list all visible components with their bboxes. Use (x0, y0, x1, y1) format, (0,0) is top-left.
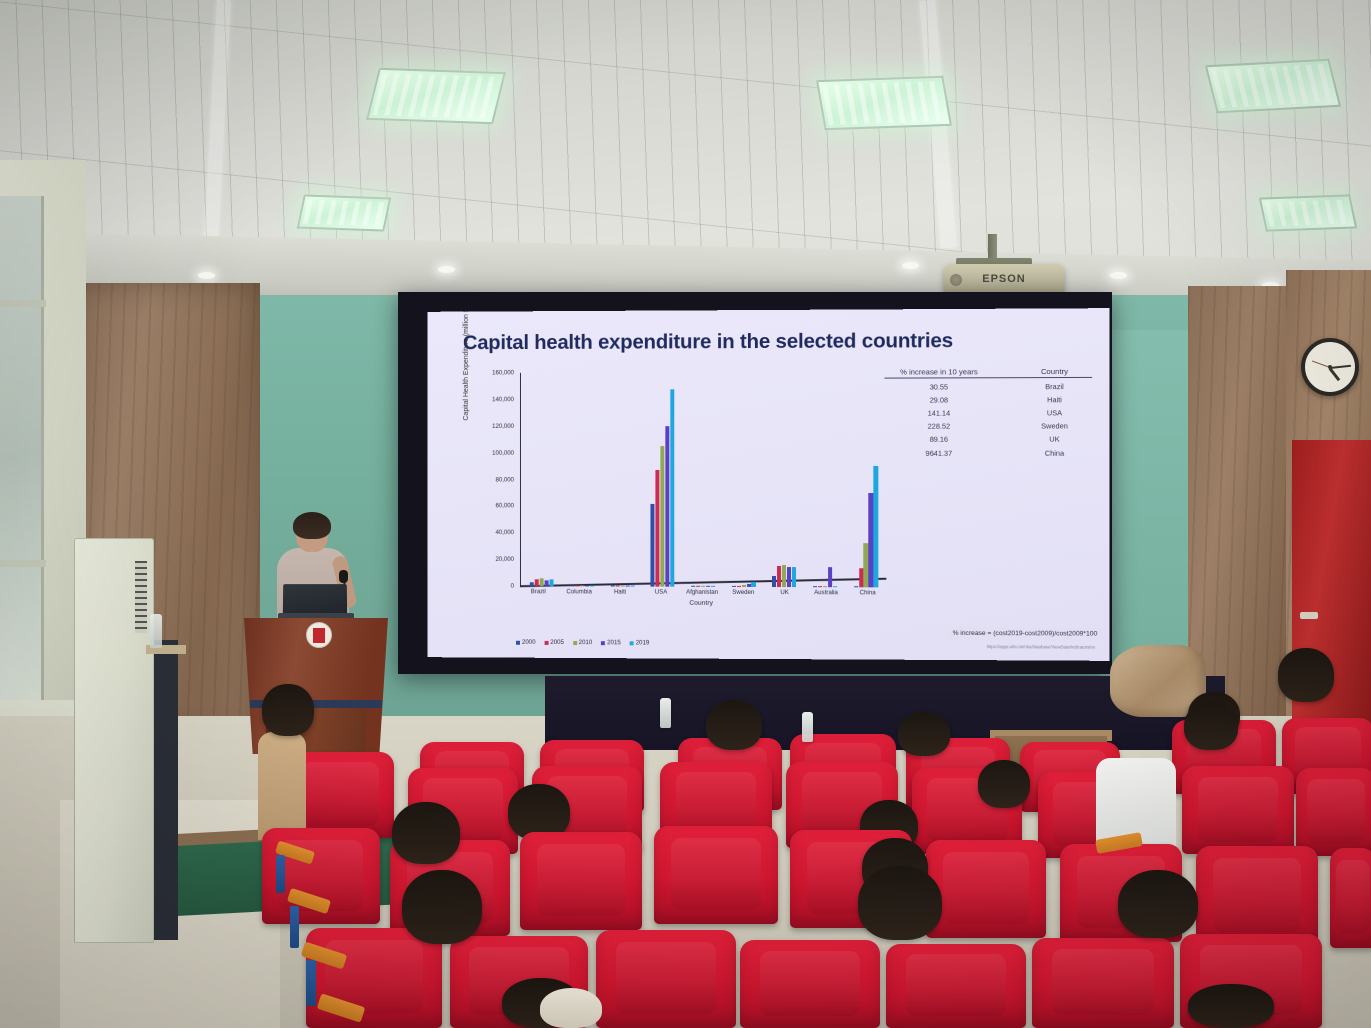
x-tick-label: USA (641, 589, 681, 596)
bar (530, 582, 534, 586)
x-tick-label: UK (765, 589, 805, 596)
ceiling-light-panel (297, 194, 392, 231)
legend-label: 2010 (579, 639, 593, 646)
bar (630, 586, 634, 587)
wood-grain (1188, 286, 1288, 716)
increase-table-header: % increase in 10 years Country (884, 367, 1092, 379)
bar (828, 567, 832, 587)
bar (864, 543, 868, 587)
ceiling-light-panel (816, 76, 952, 130)
legend-label: 2015 (607, 639, 621, 646)
bar (706, 586, 710, 587)
audience-head (1184, 702, 1238, 750)
ac-vent (135, 561, 147, 633)
laptop-screen (283, 584, 347, 616)
table-row: 141.14 USA (884, 404, 1092, 418)
x-tick-label: Sweden (723, 589, 763, 596)
ceiling-light-panel (1259, 194, 1358, 231)
formula-annotation: % increase = (cost2019-cost2009)/cost200… (947, 627, 1104, 641)
increase-value: 89.16 (884, 435, 993, 444)
y-tick-label: 60,000 (495, 503, 514, 510)
x-axis-labels: BrazilColumbiaHaitiUSAAfghanistanSwedenU… (518, 588, 888, 596)
slide-content: Capital health expenditure in the select… (428, 308, 1110, 661)
projector-brand-label: EPSON (944, 273, 1064, 285)
legend-item: 2000 (516, 639, 535, 646)
bar (833, 586, 837, 587)
water-bottle (660, 698, 671, 728)
audience-head (1118, 870, 1198, 938)
increase-value: 30.55 (884, 382, 993, 391)
window (0, 196, 44, 716)
table-row: 30.55 Brazil (884, 378, 1092, 392)
y-tick-label: 0 (511, 583, 514, 590)
table-row: 9641.37 China (884, 444, 1092, 457)
audience-head (402, 870, 482, 944)
bar-group (732, 372, 756, 587)
source-note: https://apps.who.int/nha/database/ViewDa… (987, 644, 1096, 650)
downlight (902, 262, 919, 269)
emblem-mark-icon (313, 628, 325, 643)
lectern-emblem (306, 622, 332, 648)
seat-support-post (276, 855, 285, 893)
x-tick-label: Columbia (559, 588, 599, 595)
legend-label: 2000 (522, 639, 536, 646)
bar (590, 585, 594, 586)
legend-item: 2010 (573, 639, 593, 646)
y-axis-label: Capital Health Expenditure (million $) (463, 308, 470, 420)
seat-support-post (306, 960, 316, 1006)
table-row: 29.08 Haiti (884, 391, 1092, 405)
legend-item: 2019 (630, 639, 650, 646)
downlight (198, 272, 215, 279)
legend-swatch (601, 641, 605, 645)
table-row: 228.52 Sweden (884, 418, 1092, 432)
bar-group (772, 372, 796, 587)
increase-value: 141.14 (884, 409, 993, 418)
wood-panel-right (1188, 286, 1288, 716)
bar (670, 390, 674, 587)
seat (886, 944, 1026, 1028)
y-tick-label: 140,000 (492, 396, 514, 403)
x-tick-label: Brazil (519, 588, 558, 595)
bar (585, 585, 589, 586)
clock-minute-hand (1330, 365, 1351, 369)
bar (575, 585, 579, 586)
bar (737, 586, 741, 587)
bar (747, 583, 751, 586)
bar (823, 586, 827, 587)
clock-center-pin (1328, 365, 1332, 369)
bar (782, 565, 786, 587)
x-axis-title: Country (469, 599, 887, 608)
slide-title: Capital health expenditure in the select… (463, 329, 953, 355)
y-tick-label: 100,000 (492, 449, 514, 456)
y-tick-label: 20,000 (495, 556, 514, 563)
ceiling-light-panel (1205, 59, 1341, 114)
increase-country: Brazil (1017, 382, 1092, 391)
bar (550, 579, 554, 586)
window-mullion (0, 300, 46, 307)
chart-legend: 20002005201020152019 (516, 639, 649, 647)
seat (1296, 768, 1371, 856)
bar (656, 470, 660, 587)
bar (859, 568, 863, 587)
bar-group (854, 372, 878, 588)
bar (540, 578, 544, 586)
audience-head (392, 802, 460, 864)
x-tick-label: Afghanistan (682, 589, 722, 596)
bar (691, 586, 695, 587)
increase-table-header-country: Country (1017, 367, 1092, 376)
bar (813, 586, 817, 587)
audience-head (898, 712, 950, 756)
bar-group (570, 373, 594, 587)
bar (570, 585, 574, 586)
downlight (438, 266, 455, 273)
legend-item: 2015 (601, 639, 621, 646)
presenter-hair (293, 512, 331, 539)
bar-group (691, 372, 715, 587)
x-tick-label: Australia (806, 589, 846, 596)
baseball-cap (540, 988, 602, 1028)
wall-clock (1301, 338, 1359, 396)
audience-head (1278, 648, 1334, 702)
increase-value: 9641.37 (884, 448, 993, 457)
y-tick-label: 160,000 (492, 369, 514, 376)
bar (711, 586, 715, 587)
audience-body (258, 732, 306, 840)
door-handle (1300, 612, 1318, 619)
bar (869, 493, 873, 587)
increase-table-header-value: % increase in 10 years (884, 367, 993, 376)
bar-group (530, 373, 554, 587)
increase-country: USA (1017, 409, 1092, 418)
bar-group (813, 372, 837, 587)
y-tick-label: 80,000 (495, 476, 514, 483)
increase-country: China (1017, 448, 1092, 457)
downlight (1110, 272, 1127, 279)
bar (620, 585, 624, 586)
seat (306, 928, 442, 1028)
increase-table: % increase in 10 years Country 30.55 Bra… (884, 367, 1092, 458)
audience-head (978, 760, 1030, 808)
seat (1196, 846, 1318, 946)
audience-head (706, 700, 762, 750)
bar (854, 586, 858, 587)
bar (777, 566, 781, 587)
increase-country: UK (1017, 435, 1092, 444)
legend-swatch (573, 641, 577, 645)
x-tick-label: China (847, 589, 887, 596)
legend-swatch (630, 641, 634, 645)
audience-head (1188, 984, 1274, 1028)
legend-swatch (544, 640, 548, 644)
bar (818, 586, 822, 587)
bar (772, 576, 776, 587)
increase-value: 29.08 (884, 396, 993, 405)
bar (580, 585, 584, 586)
increase-country: Haiti (1017, 395, 1092, 404)
bar (535, 579, 539, 586)
y-axis-ticks: 020,00040,00060,00080,000100,000120,0001… (475, 373, 518, 586)
bar (701, 586, 705, 587)
bar (696, 586, 700, 587)
lecture-hall-photo: EPSON Capital health expenditure in the … (0, 0, 1371, 1028)
seat (520, 832, 642, 930)
seat (596, 930, 736, 1028)
clock-hour-hand (1329, 367, 1340, 380)
ceiling (0, 0, 1371, 300)
bar (615, 586, 619, 587)
y-tick-label: 120,000 (492, 423, 514, 430)
air-conditioner (74, 538, 154, 943)
increase-country: Sweden (1017, 422, 1092, 431)
audience-head (858, 866, 942, 940)
water-bottle (802, 712, 813, 742)
legend-label: 2005 (550, 639, 564, 646)
bar (666, 426, 670, 587)
window-mullion (0, 560, 46, 567)
seat (926, 840, 1046, 938)
bar-groups (522, 372, 886, 588)
bar (792, 567, 796, 587)
bar (661, 446, 665, 587)
bar (625, 586, 629, 587)
seat (1182, 766, 1294, 854)
bar (787, 567, 791, 587)
bar (874, 466, 878, 587)
audience-head (262, 684, 314, 736)
seat (1032, 938, 1174, 1028)
bar (651, 504, 655, 587)
seat (654, 826, 778, 924)
bar-chart: Capital Health Expenditure (million $) 0… (469, 372, 887, 613)
legend-swatch (516, 640, 520, 644)
legend-label: 2019 (636, 639, 650, 646)
water-bottle (150, 614, 162, 648)
bar-group (610, 372, 634, 586)
ceiling-light-panel (366, 68, 506, 124)
increase-value: 228.52 (884, 422, 993, 431)
seat-support-post (290, 906, 299, 948)
microphone-icon (339, 570, 348, 583)
bar-group (651, 372, 675, 586)
seat (1330, 848, 1371, 948)
bar (545, 580, 549, 586)
seat (740, 940, 880, 1028)
bar (732, 586, 736, 587)
bar (751, 582, 755, 587)
legend-item: 2005 (544, 639, 564, 646)
bar (742, 585, 746, 587)
x-tick-label: Haiti (600, 588, 640, 595)
bar (610, 586, 614, 587)
y-tick-label: 40,000 (495, 529, 514, 536)
table-row: 89.16 UK (884, 431, 1092, 444)
